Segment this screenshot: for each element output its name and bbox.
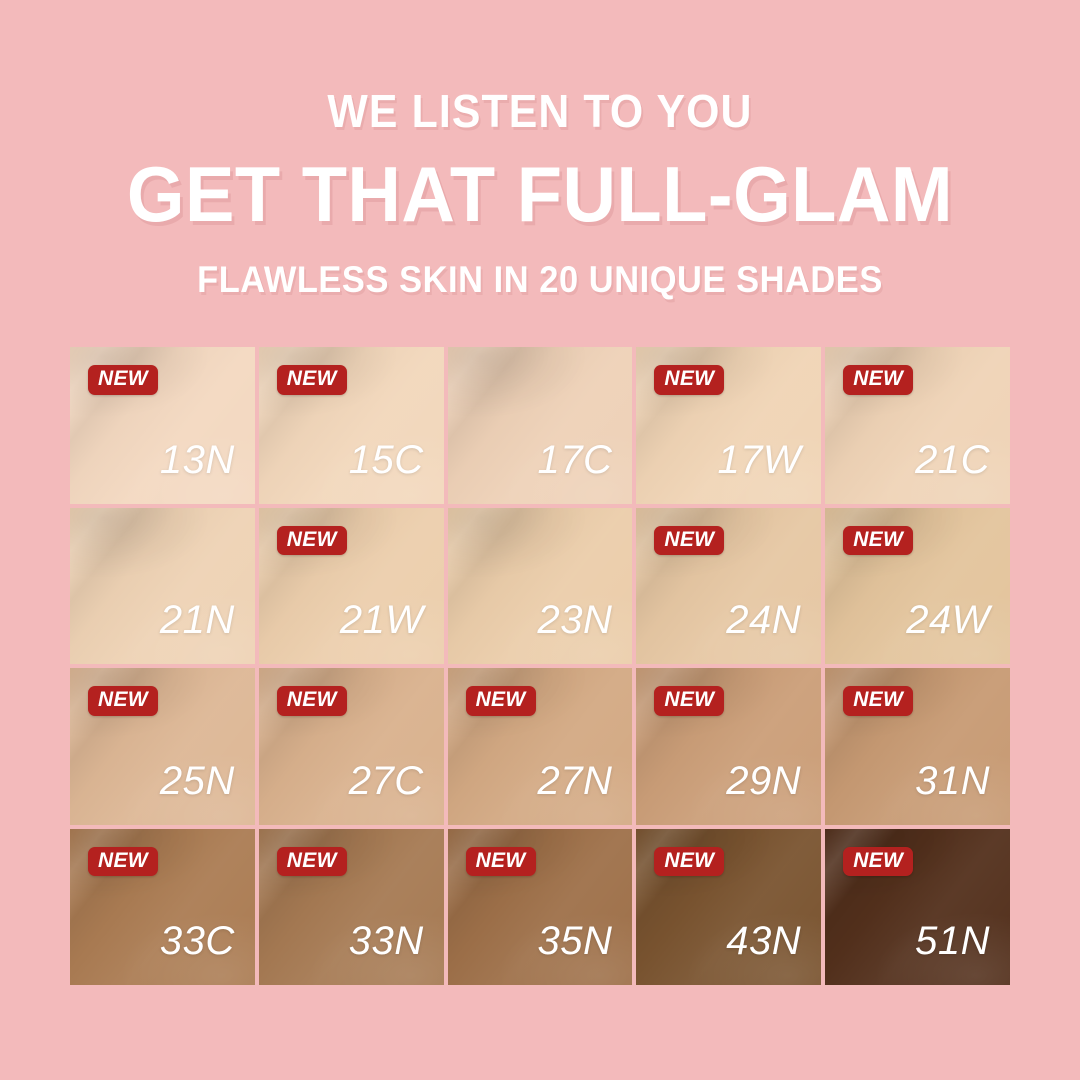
shade-label: 24N	[726, 600, 801, 640]
shade-swatch[interactable]: NEW15C	[259, 347, 444, 504]
shade-label: 33N	[349, 921, 424, 961]
new-badge: NEW	[654, 686, 724, 716]
shade-label: 13N	[160, 440, 235, 480]
new-badge: NEW	[843, 365, 913, 395]
shade-swatch[interactable]: NEW51N	[825, 829, 1010, 986]
shade-swatch[interactable]: NEW27C	[259, 668, 444, 825]
shade-swatch[interactable]: NEW35N	[448, 829, 633, 986]
shade-swatch[interactable]: NEW29N	[636, 668, 821, 825]
shade-label: 21C	[915, 440, 990, 480]
shade-label: 21N	[160, 600, 235, 640]
new-badge: NEW	[277, 686, 347, 716]
header-eyebrow: WE LISTEN TO YOU	[38, 88, 1042, 134]
new-badge: NEW	[654, 847, 724, 877]
shade-swatch[interactable]: NEW24N	[636, 508, 821, 665]
shade-label: 43N	[726, 921, 801, 961]
shade-swatch[interactable]: 21N	[70, 508, 255, 665]
shade-label: 27N	[538, 761, 613, 801]
new-badge: NEW	[88, 686, 158, 716]
shade-label: 17W	[717, 440, 801, 480]
new-badge: NEW	[88, 365, 158, 395]
shade-swatch[interactable]: 17C	[448, 347, 633, 504]
shade-label: 27C	[349, 761, 424, 801]
shade-swatch[interactable]: NEW21W	[259, 508, 444, 665]
new-badge: NEW	[843, 847, 913, 877]
new-badge: NEW	[654, 526, 724, 556]
shade-label: 24W	[906, 600, 990, 640]
shade-label: 31N	[915, 761, 990, 801]
new-badge: NEW	[654, 365, 724, 395]
shade-swatch-grid: NEW13NNEW15C17CNEW17WNEW21C21NNEW21W23NN…	[70, 347, 1010, 985]
new-badge: NEW	[466, 686, 536, 716]
new-badge: NEW	[277, 526, 347, 556]
new-badge: NEW	[466, 847, 536, 877]
shade-swatch[interactable]: NEW24W	[825, 508, 1010, 665]
shade-swatch[interactable]: NEW33N	[259, 829, 444, 986]
shade-swatch[interactable]: NEW17W	[636, 347, 821, 504]
new-badge: NEW	[88, 847, 158, 877]
shade-label: 17C	[538, 440, 613, 480]
shade-swatch[interactable]: NEW43N	[636, 829, 821, 986]
shade-swatch[interactable]: NEW21C	[825, 347, 1010, 504]
shade-label: 21W	[340, 600, 424, 640]
shade-label: 25N	[160, 761, 235, 801]
shade-swatch[interactable]: NEW27N	[448, 668, 633, 825]
shade-swatch[interactable]: NEW13N	[70, 347, 255, 504]
shade-swatch[interactable]: 23N	[448, 508, 633, 665]
new-badge: NEW	[843, 686, 913, 716]
new-badge: NEW	[843, 526, 913, 556]
shade-label: 51N	[915, 921, 990, 961]
promo-header: WE LISTEN TO YOU GET THAT FULL-GLAM FLAW…	[0, 0, 1080, 298]
shade-swatch[interactable]: NEW33C	[70, 829, 255, 986]
shade-label: 35N	[538, 921, 613, 961]
new-badge: NEW	[277, 847, 347, 877]
shade-swatch[interactable]: NEW31N	[825, 668, 1010, 825]
shade-swatch[interactable]: NEW25N	[70, 668, 255, 825]
shade-label: 23N	[538, 600, 613, 640]
shade-label: 29N	[726, 761, 801, 801]
header-subline: FLAWLESS SKIN IN 20 UNIQUE SHADES	[38, 261, 1042, 298]
shade-label: 33C	[160, 921, 235, 961]
shade-label: 15C	[349, 440, 424, 480]
header-headline: GET THAT FULL-GLAM	[27, 155, 1053, 233]
new-badge: NEW	[277, 365, 347, 395]
